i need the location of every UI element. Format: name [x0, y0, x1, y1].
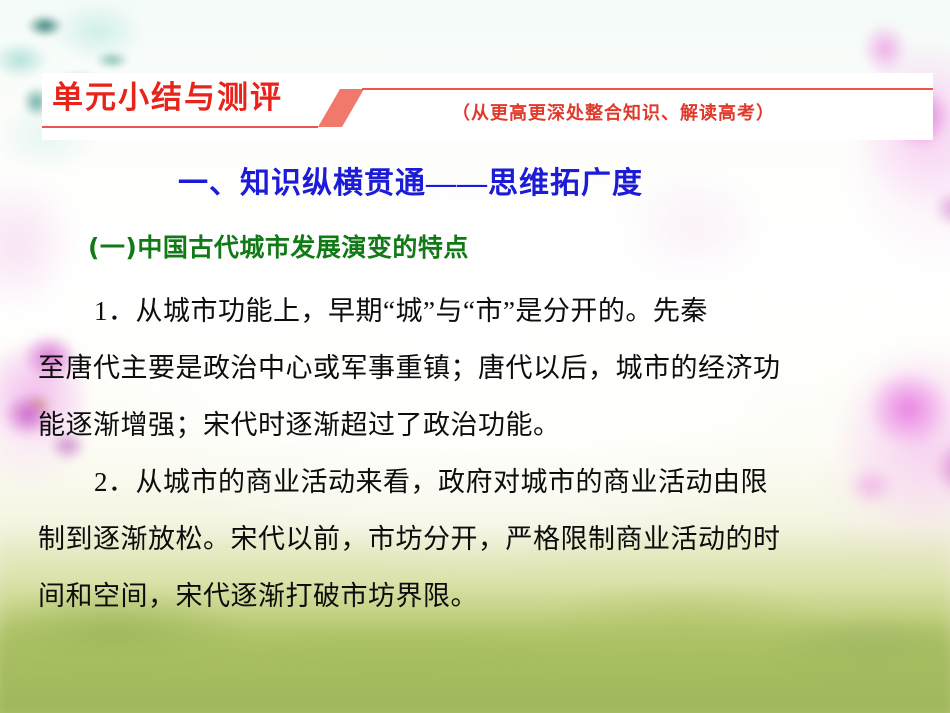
paragraph-1-line-1: 1．从城市功能上，早期“城”与“市”是分开的。先秦: [38, 283, 924, 340]
section-heading: 一、知识纵横贯通——思维拓广度: [178, 158, 643, 202]
header-title-underline: [42, 126, 318, 128]
header-horizontal-rule: [362, 88, 933, 90]
body-text-block: 1．从城市功能上，早期“城”与“市”是分开的。先秦 至唐代主要是政治中心或军事重…: [38, 283, 924, 625]
paragraph-2-line-1: 2．从城市的商业活动来看，政府对城市的商业活动由限: [38, 454, 924, 511]
background-grass-foreground: [0, 618, 950, 713]
header-subtitle: （从更高更深处整合知识、解读高考）: [452, 99, 775, 125]
sub-heading: (一)中国古代城市发展演变的特点: [88, 228, 469, 264]
page-title: 单元小结与测评: [52, 77, 283, 119]
paragraph-1-line-3: 能逐渐增强；宋代时逐渐超过了政治功能。: [38, 397, 924, 454]
paragraph-2-line-2: 制到逐渐放松。宋代以前，市坊分开，严格限制商业活动的时: [38, 511, 924, 568]
paragraph-2-line-3: 间和空间，宋代逐渐打破市坊界限。: [38, 568, 924, 625]
paragraph-1-line-2: 至唐代主要是政治中心或军事重镇；唐代以后，城市的经济功: [38, 340, 924, 397]
slide-canvas: 单元小结与测评 （从更高更深处整合知识、解读高考） 一、知识纵横贯通——思维拓广…: [0, 0, 950, 713]
